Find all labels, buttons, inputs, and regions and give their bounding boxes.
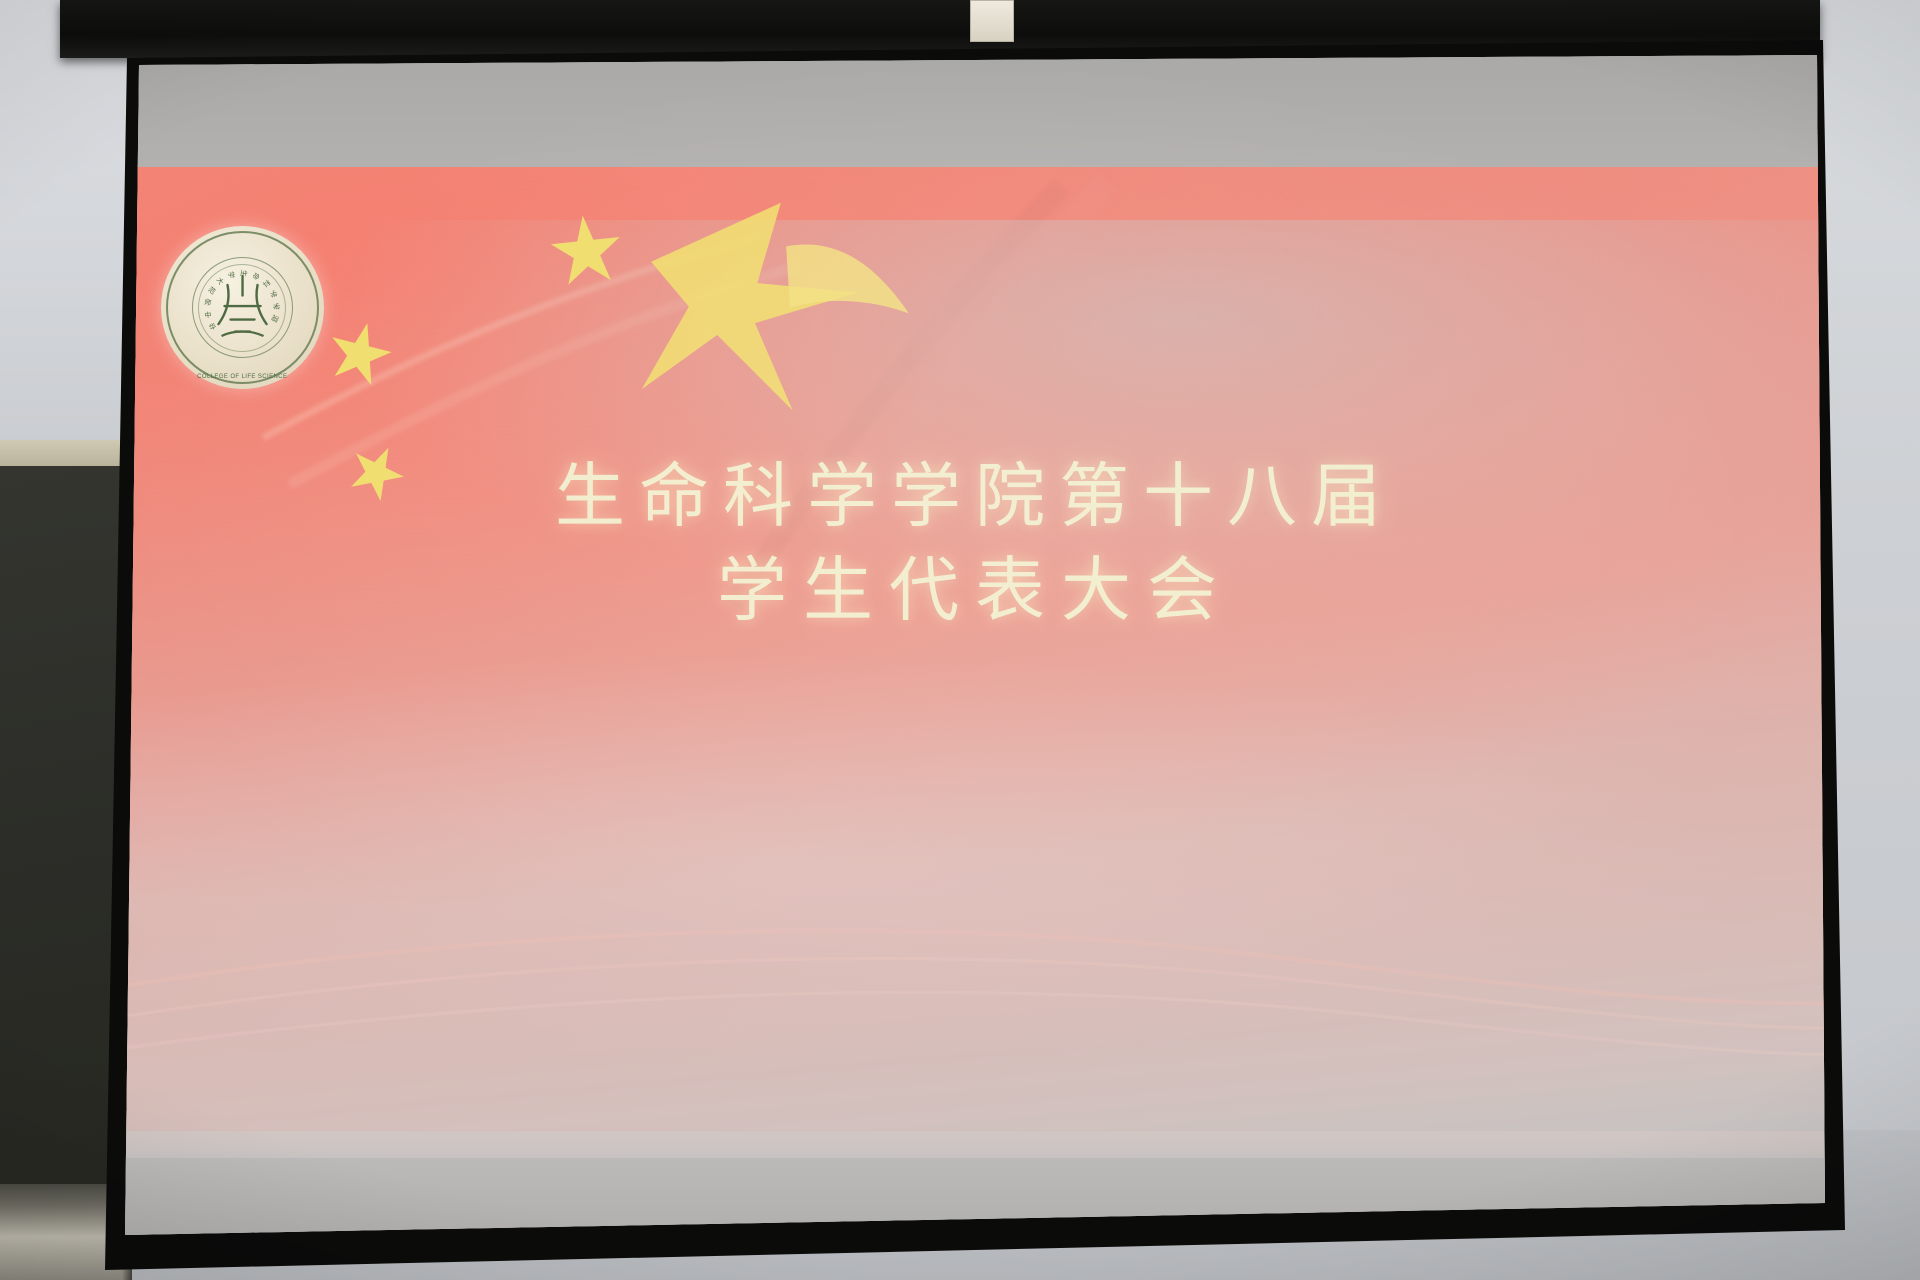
slide-title-line-1: 生命科学学院第十八届 bbox=[125, 450, 1825, 544]
slide-letterbox-top bbox=[125, 55, 1825, 167]
seal-center-mark-icon bbox=[205, 270, 280, 345]
star-icon-1 bbox=[538, 210, 633, 290]
presentation-slide: 华中师范大学生命科学学院 COLLEGE OF LIFE SCIENCE 生命科… bbox=[125, 55, 1825, 1235]
seal-bottom-text: COLLEGE OF LIFE SCIENCE bbox=[161, 374, 324, 380]
university-seal-emblem: 华中师范大学生命科学学院 COLLEGE OF LIFE SCIENCE bbox=[161, 226, 324, 389]
star-banner-tail-icon bbox=[771, 208, 924, 361]
slide-ribbon-arcs bbox=[125, 834, 1825, 1094]
projector-screen-surface: 华中师范大学生命科学学院 COLLEGE OF LIFE SCIENCE 生命科… bbox=[125, 55, 1825, 1235]
case-label-tag bbox=[970, 0, 1014, 42]
slide-title-block: 生命科学学院第十八届 学生代表大会 bbox=[125, 450, 1825, 638]
photo-scene: 华中师范大学生命科学学院 COLLEGE OF LIFE SCIENCE 生命科… bbox=[0, 0, 1920, 1280]
slide-title-line-2: 学生代表大会 bbox=[125, 544, 1825, 638]
